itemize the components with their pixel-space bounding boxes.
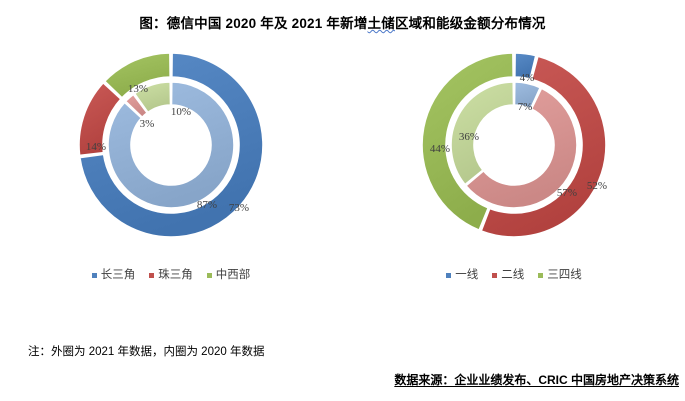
title-spellcheck-term: 土储	[368, 16, 395, 31]
donut-rings-tier	[421, 52, 607, 238]
title-pre-text: 图：德信中国 2020 年及 2021 年新增	[139, 16, 367, 31]
legend-label: 二线	[501, 266, 524, 282]
legend-item[interactable]: 一线	[446, 266, 478, 282]
legend-swatch-icon	[92, 273, 97, 278]
donut-svg-region	[78, 52, 264, 238]
chart-page: 图：德信中国 2020 年及 2021 年新增土储区域和能级金额分布情况 73%…	[0, 0, 685, 401]
legend-item[interactable]: 三四线	[538, 266, 582, 282]
legend-item[interactable]: 长三角	[92, 266, 136, 282]
outer-ring-tier-2021	[422, 53, 606, 237]
inner-ring-tier-2020	[451, 82, 577, 208]
legend-swatch-icon	[538, 273, 543, 278]
chart-note: 注：外圈为 2021 年数据，内圈为 2020 年数据	[28, 343, 264, 359]
legend-tier: 一线二线三四线	[343, 266, 685, 282]
outer-ring-region-2021	[79, 53, 263, 237]
legend-item[interactable]: 二线	[492, 266, 524, 282]
legend-label: 长三角	[101, 266, 136, 282]
donut-svg-tier	[421, 52, 607, 238]
legend-swatch-icon	[149, 273, 154, 278]
donut-rings-region	[78, 52, 264, 238]
page-title: 图：德信中国 2020 年及 2021 年新增土储区域和能级金额分布情况	[0, 12, 685, 32]
title-post-text: 区域和能级金额分布情况	[395, 16, 546, 31]
donut-chart-region: 73%14%13%87%3%10% 长三角珠三角中西部	[0, 52, 342, 282]
legend-swatch-icon	[207, 273, 212, 278]
legend-label: 中西部	[216, 266, 251, 282]
legend-region: 长三角珠三角中西部	[0, 266, 342, 282]
legend-label: 三四线	[547, 266, 582, 282]
legend-item[interactable]: 中西部	[207, 266, 251, 282]
legend-label: 一线	[455, 266, 478, 282]
inner-ring-region-2020	[108, 82, 234, 208]
legend-swatch-icon	[446, 273, 451, 278]
donut-chart-tier: 4%52%44%7%57%36% 一线二线三四线	[343, 52, 685, 282]
legend-label: 珠三角	[158, 266, 193, 282]
legend-item[interactable]: 珠三角	[149, 266, 193, 282]
legend-swatch-icon	[492, 273, 497, 278]
chart-source: 数据来源：企业业绩发布、CRIC 中国房地产决策系统	[394, 371, 679, 388]
